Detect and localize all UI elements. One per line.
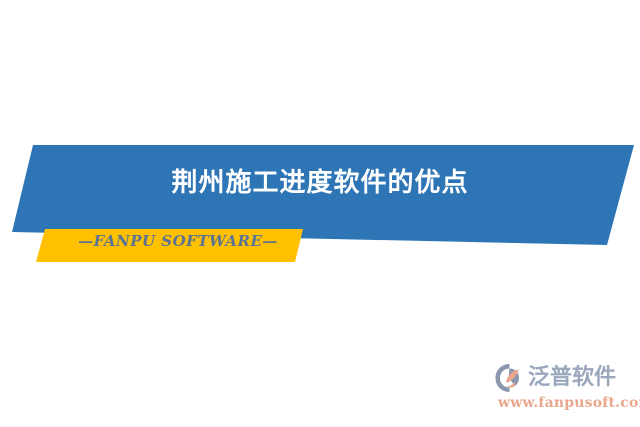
logo-wordmark: 泛普软件 bbox=[528, 365, 616, 391]
brand-logo: 泛普软件 www.fanpusoft.com bbox=[494, 361, 632, 419]
page-title: 荆州施工进度软件的优点 bbox=[0, 166, 640, 200]
logo-row: 泛普软件 bbox=[494, 361, 616, 395]
banner-slogan: —FANPU SOFTWARE— bbox=[58, 230, 298, 252]
logo-url-text: www.fanpusoft.com bbox=[498, 394, 640, 412]
slide-canvas: 荆州施工进度软件的优点 —FANPU SOFTWARE— 泛普软件 www.fa… bbox=[0, 0, 640, 427]
fanpu-circle-logo-icon bbox=[494, 363, 526, 393]
